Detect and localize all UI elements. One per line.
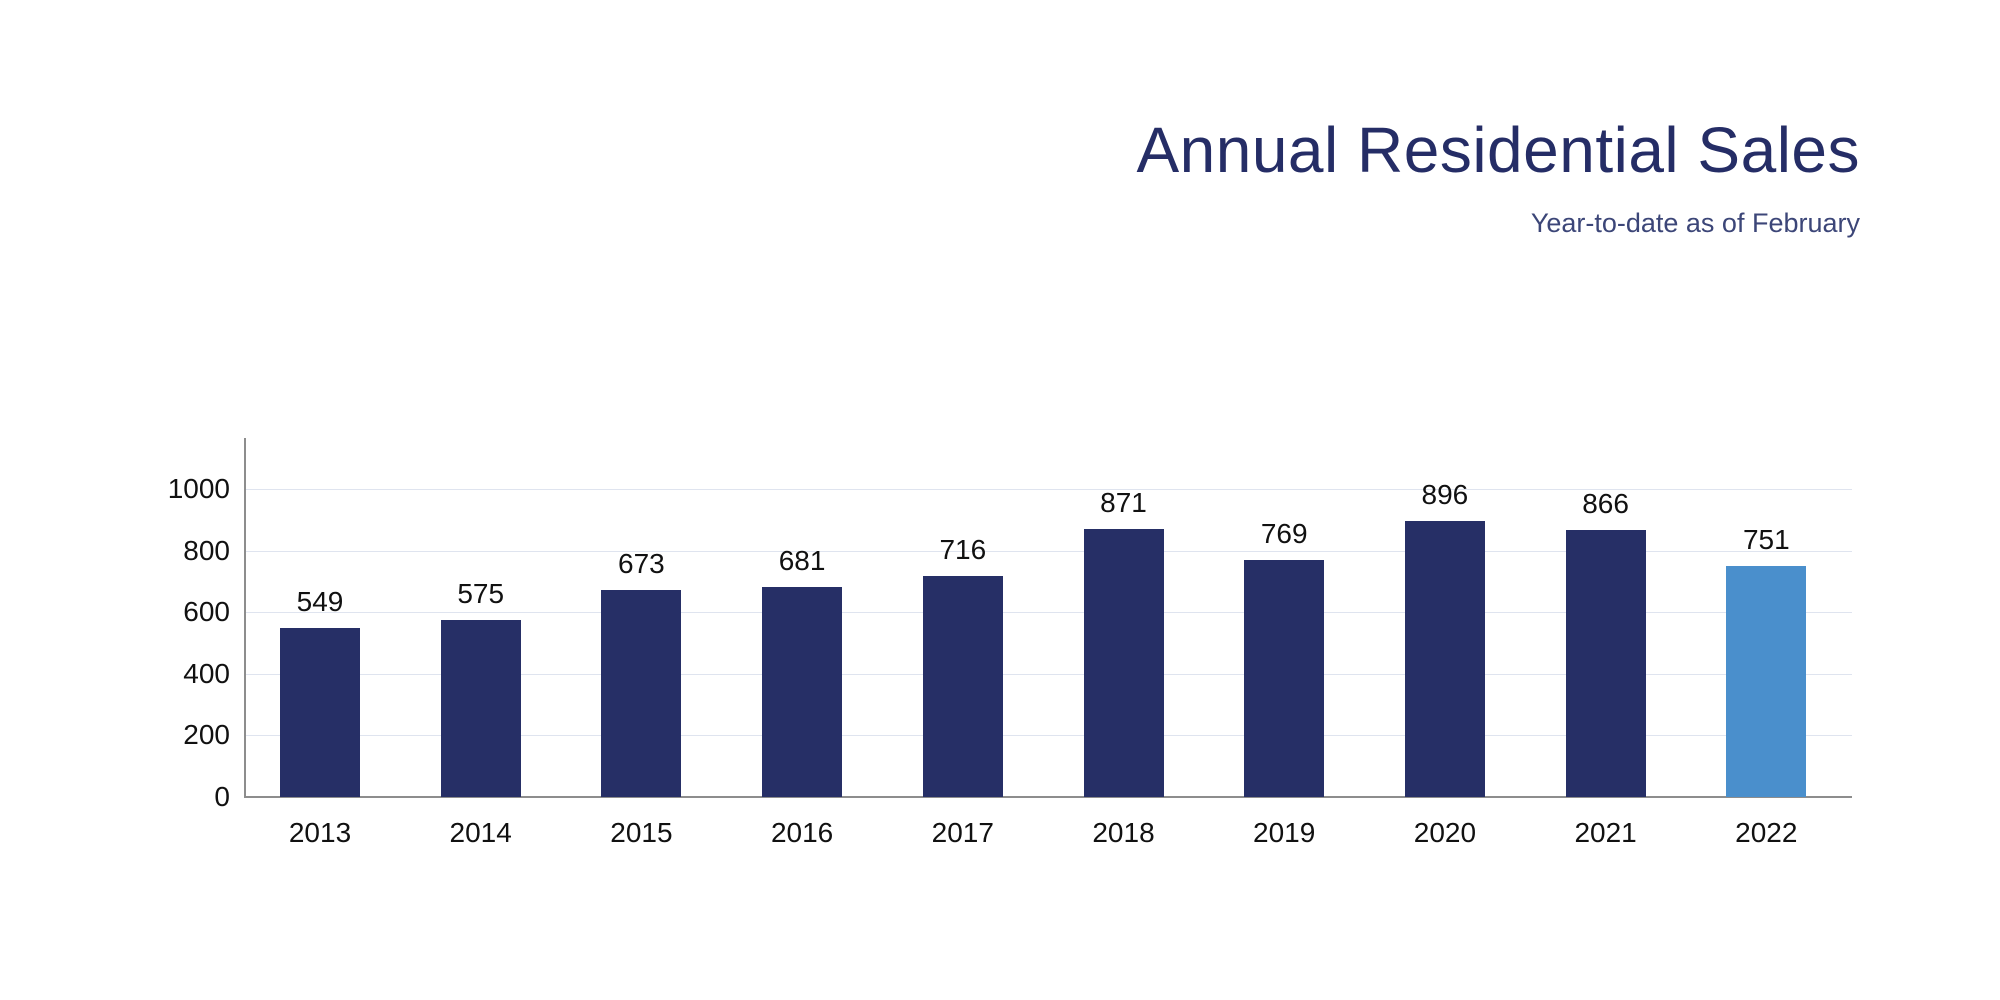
x-axis-label-2014: 2014 [450, 817, 512, 849]
bar-2013[interactable]: 549 [280, 628, 360, 797]
y-axis-line [244, 438, 246, 798]
bar-rect-2021[interactable] [1566, 530, 1646, 797]
bar-2018[interactable]: 871 [1084, 529, 1164, 797]
bar-2020[interactable]: 896 [1405, 521, 1485, 797]
bar-value-label-2015: 673 [618, 548, 665, 580]
bar-rect-2015[interactable] [601, 590, 681, 797]
bar-value-label-2018: 871 [1100, 487, 1147, 519]
y-axis-label-1000: 1000 [130, 473, 230, 505]
bar-value-label-2021: 866 [1582, 488, 1629, 520]
x-axis-label-2022: 2022 [1735, 817, 1797, 849]
bar-2021[interactable]: 866 [1566, 530, 1646, 797]
y-axis-label-400: 400 [130, 658, 230, 690]
bar-rect-2018[interactable] [1084, 529, 1164, 797]
bar-value-label-2019: 769 [1261, 518, 1308, 550]
x-axis-label-2016: 2016 [771, 817, 833, 849]
y-axis-label-800: 800 [130, 535, 230, 567]
bar-value-label-2022: 751 [1743, 524, 1790, 556]
bar-2017[interactable]: 716 [923, 576, 1003, 797]
bar-2015[interactable]: 673 [601, 590, 681, 797]
x-axis-label-2017: 2017 [932, 817, 994, 849]
bar-rect-2022[interactable] [1726, 566, 1806, 797]
bar-2014[interactable]: 575 [441, 620, 521, 797]
bar-value-label-2017: 716 [939, 534, 986, 566]
y-axis-tick-labels: 02004006008001000 [112, 0, 230, 1000]
bar-rect-2014[interactable] [441, 620, 521, 797]
x-axis-label-2019: 2019 [1253, 817, 1315, 849]
x-axis-label-2015: 2015 [610, 817, 672, 849]
bar-2022[interactable]: 751 [1726, 566, 1806, 797]
bar-value-label-2020: 896 [1422, 479, 1469, 511]
bar-2019[interactable]: 769 [1244, 560, 1324, 797]
x-axis-label-2021: 2021 [1574, 817, 1636, 849]
bar-rect-2017[interactable] [923, 576, 1003, 797]
bar-value-label-2016: 681 [779, 545, 826, 577]
bar-rect-2020[interactable] [1405, 521, 1485, 797]
bar-rect-2013[interactable] [280, 628, 360, 797]
y-axis-label-200: 200 [130, 719, 230, 751]
bar-rect-2019[interactable] [1244, 560, 1324, 797]
y-axis-label-600: 600 [130, 596, 230, 628]
bar-value-label-2014: 575 [457, 578, 504, 610]
bar-rect-2016[interactable] [762, 587, 842, 797]
x-axis-label-2013: 2013 [289, 817, 351, 849]
x-axis-label-2020: 2020 [1414, 817, 1476, 849]
bar-value-label-2013: 549 [297, 586, 344, 618]
bar-2016[interactable]: 681 [762, 587, 842, 797]
x-axis-label-2018: 2018 [1092, 817, 1154, 849]
y-axis-label-0: 0 [130, 781, 230, 813]
bar-chart: 02004006008001000 5492013575201467320156… [0, 0, 2000, 1000]
